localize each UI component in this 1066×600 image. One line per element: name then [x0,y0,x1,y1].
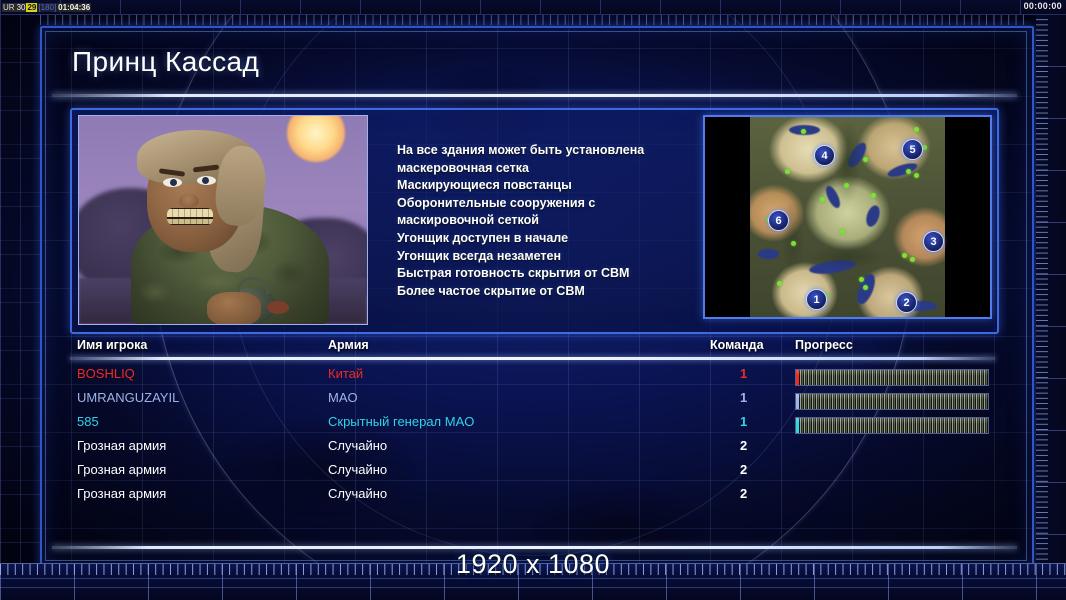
player-army: Случайно [328,462,387,477]
portrait-pupil-right [202,177,209,184]
player-army: Случайно [328,486,387,501]
map-letterbox-left [705,117,750,317]
title-divider [52,94,1017,97]
feature-line: Быстрая готовность скрытия от СВМ [397,265,702,283]
map-start-position[interactable]: 3 [923,231,944,252]
portrait-teeth-lower [167,219,213,224]
player-team: 2 [740,438,747,453]
session-timer: 01:04:36 [57,3,91,12]
general-portrait [78,115,368,325]
general-info-panel: На все здания может быть установлена мас… [70,108,999,334]
player-army: Скрытный генерал MAO [328,414,474,429]
top-status-bar: UR3029[180]01:04:36 00:00:00 [0,0,1066,15]
player-name: UMRANGUZAYIL [77,390,179,405]
right-ruler [1036,14,1066,564]
progress-gloss [796,418,988,424]
player-progress-bar [795,369,989,386]
player-army: MAO [328,390,358,405]
player-list-table: Имя игрока Армия Команда Прогресс BOSHLI… [70,338,995,534]
column-header-progress: Прогресс [795,338,853,352]
map-letterbox-right [945,117,990,317]
game-lobby-screen: UR3029[180]01:04:36 00:00:00 Принц Касса… [0,0,1066,600]
table-row[interactable]: Грозная армия Случайно 2 [70,486,995,510]
player-name: Грозная армия [77,486,166,501]
fps-value-3: [180] [37,3,57,12]
player-team: 2 [740,486,747,501]
player-team: 2 [740,462,747,477]
column-header-army: Армия [328,338,369,352]
player-team: 1 [740,390,747,405]
map-start-position[interactable]: 5 [902,139,923,160]
player-progress-bar [795,417,989,434]
player-name: 585 [77,414,99,429]
feature-line: Оборонительные сооружения с [397,195,702,213]
player-name: Грозная армия [77,438,166,453]
map-start-position[interactable]: 2 [896,292,917,313]
performance-readout: UR3029[180]01:04:36 [2,3,91,12]
portrait-mouth [167,208,213,225]
player-name: Грозная армия [77,462,166,477]
resolution-overlay: 1920 x 1080 [0,549,1066,580]
portrait-nose [179,194,199,208]
feature-line: маскеровочная сетка [397,160,702,178]
feature-line: Угонщик доступен в начале [397,230,702,248]
general-features-list: На все здания может быть установлена мас… [397,142,702,300]
table-row[interactable]: Грозная армия Случайно 2 [70,462,995,486]
player-army: Китай [328,366,363,381]
fps-label: UR [2,3,16,12]
table-header-divider [70,357,995,360]
top-status-bar-ticks [0,0,1066,14]
portrait-kettle-spout [267,301,289,314]
map-start-position[interactable]: 1 [806,289,827,310]
portrait-teeth-upper [167,209,213,217]
table-header-row: Имя игрока Армия Команда Прогресс [70,338,995,358]
header-section: Принц Кассад [52,34,1017,96]
feature-line: Маскирующиеся повстанцы [397,177,702,195]
portrait-pupil-left [170,179,177,186]
player-team: 1 [740,366,747,381]
player-name: BOSHLIQ [77,366,135,381]
player-progress-bar [795,393,989,410]
top-ruler-ticks [40,14,1030,25]
feature-line: Более частое скрытие от СВМ [397,283,702,301]
left-ruler-grid [0,14,40,564]
progress-gloss [796,394,988,400]
portrait-hand [207,292,261,325]
feature-line: маскировочной сеткой [397,212,702,230]
fps-value-1: 30 [16,3,27,12]
player-team: 1 [740,414,747,429]
map-start-position[interactable]: 4 [814,145,835,166]
page-title: Принц Кассад [72,46,259,78]
top-right-clock: 00:00:00 [1024,1,1062,11]
table-row[interactable]: UMRANGUZAYIL MAO 1 [70,390,995,414]
table-row[interactable]: BOSHLIQ Китай 1 [70,366,995,390]
right-ruler-major-ticks [1036,14,1066,564]
fps-value-2: 29 [26,3,37,12]
column-header-team: Команда [710,338,764,352]
column-header-name: Имя игрока [77,338,147,352]
feature-line: На все здания может быть установлена [397,142,702,160]
progress-gloss [796,370,988,376]
player-army: Случайно [328,438,387,453]
map-start-position[interactable]: 6 [768,210,789,231]
table-row[interactable]: Грозная армия Случайно 2 [70,438,995,462]
map-preview[interactable]: 4 5 6 3 1 2 [703,115,992,319]
table-row[interactable]: 585 Скрытный генерал MAO 1 [70,414,995,438]
feature-line: Угонщик всегда незаметен [397,248,702,266]
